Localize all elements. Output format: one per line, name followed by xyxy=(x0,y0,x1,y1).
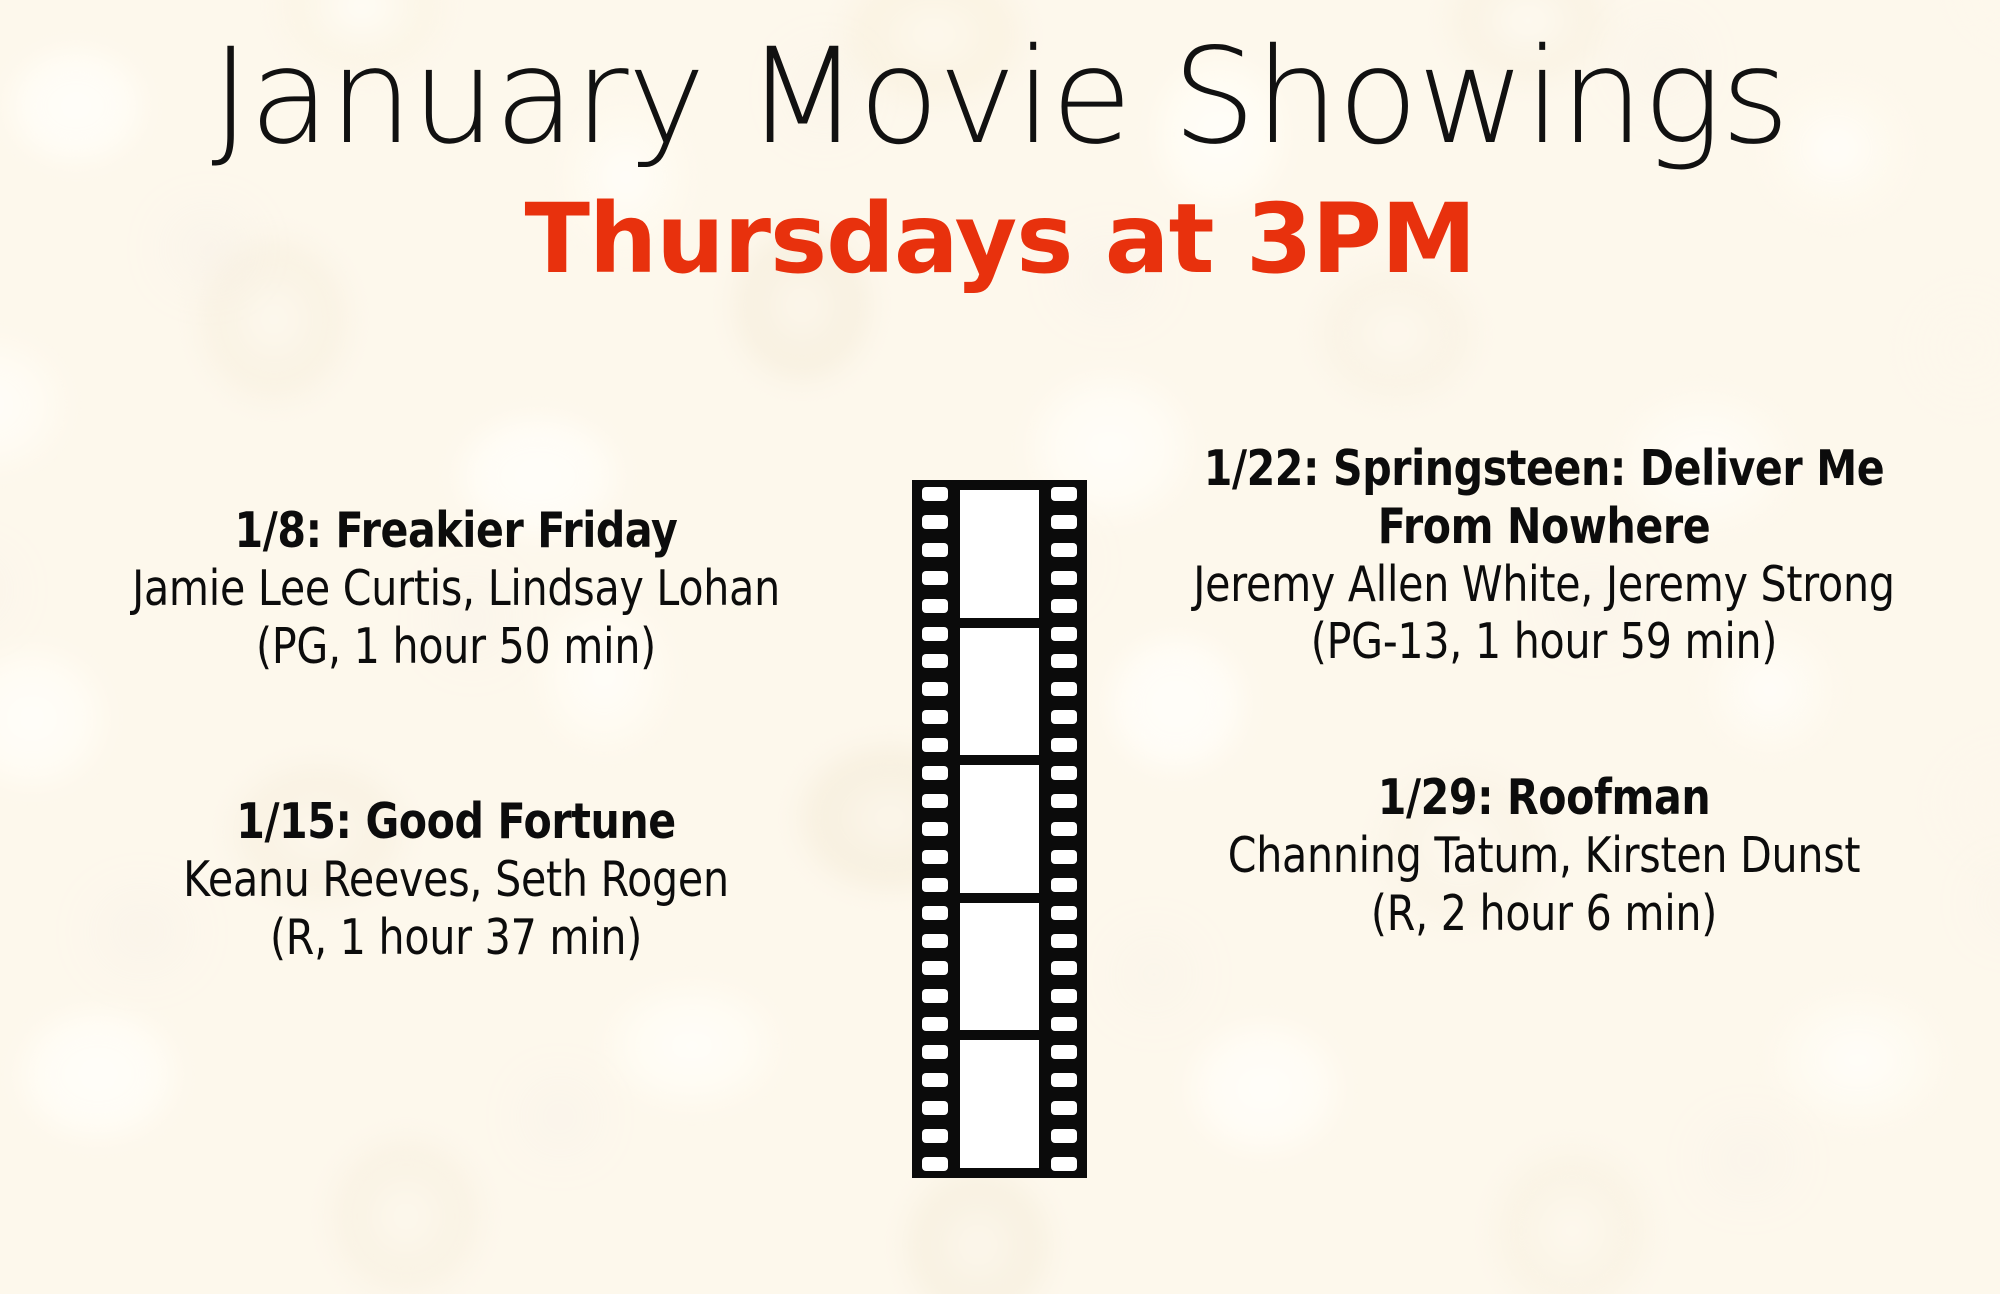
film-perforation xyxy=(922,1157,948,1171)
film-frame-list xyxy=(958,490,1041,1168)
showing-rating-runtime: (R, 2 hour 6 min) xyxy=(1193,885,1895,943)
showing-title: 1/29: Roofman xyxy=(1193,769,1895,827)
showing-item: 1/15: Good Fortune Keanu Reeves, Seth Ro… xyxy=(0,793,912,966)
showings-column-right: 1/22: Springsteen: Deliver Me From Nowhe… xyxy=(1088,440,2000,1294)
poster-subtitle: Thursdays at 3PM xyxy=(0,169,2000,290)
film-perforation xyxy=(1051,543,1077,557)
film-perforation xyxy=(1051,906,1077,920)
film-perforation xyxy=(1051,878,1077,892)
film-perforation xyxy=(1051,934,1077,948)
layout-spacer xyxy=(0,1071,912,1294)
showing-cast: Keanu Reeves, Seth Rogen xyxy=(105,851,807,909)
showing-rating-runtime: (R, 1 hour 37 min) xyxy=(105,909,807,967)
film-perforation xyxy=(922,682,948,696)
film-perforation xyxy=(922,850,948,864)
movie-showings-poster: January Movie Showings Thursdays at 3PM … xyxy=(0,0,2000,1294)
film-perforation xyxy=(1051,682,1077,696)
film-perforation xyxy=(1051,710,1077,724)
showing-cast: Jamie Lee Curtis, Lindsay Lohan xyxy=(105,560,807,618)
film-perforation xyxy=(1051,822,1077,836)
film-perforation xyxy=(922,487,948,501)
showing-rating-runtime: (PG-13, 1 hour 59 min) xyxy=(1193,613,1895,671)
showing-cast: Jeremy Allen White, Jeremy Strong xyxy=(1193,556,1895,614)
film-perforation xyxy=(1051,850,1077,864)
film-perforation xyxy=(922,738,948,752)
showing-title: 1/8: Freakier Friday xyxy=(105,502,807,560)
film-perforation xyxy=(1051,1157,1077,1171)
film-perforation xyxy=(1051,1017,1077,1031)
film-perforation-rail-left xyxy=(912,480,958,1178)
film-perforation xyxy=(1051,599,1077,613)
film-perforation xyxy=(922,1045,948,1059)
page-title: January Movie Showings xyxy=(0,0,2000,169)
film-perforation-rail-right xyxy=(1041,480,1087,1178)
film-perforation xyxy=(1051,487,1077,501)
film-perforation xyxy=(1051,989,1077,1003)
film-frame xyxy=(960,490,1039,618)
film-perforation xyxy=(922,989,948,1003)
showing-title: 1/22: Springsteen: Deliver Me From Nowhe… xyxy=(1193,440,1895,556)
showings-column-left: 1/8: Freakier Friday Jamie Lee Curtis, L… xyxy=(0,440,912,1294)
film-perforation xyxy=(922,1129,948,1143)
film-perforation xyxy=(1051,627,1077,641)
film-perforation xyxy=(922,766,948,780)
film-perforation xyxy=(922,794,948,808)
film-perforation xyxy=(922,906,948,920)
film-perforation xyxy=(922,571,948,585)
showing-item: 1/22: Springsteen: Deliver Me From Nowhe… xyxy=(1088,440,2000,671)
film-frame xyxy=(960,1040,1039,1168)
film-perforation xyxy=(922,599,948,613)
film-perforation xyxy=(1051,1045,1077,1059)
film-perforation xyxy=(1051,515,1077,529)
film-perforation xyxy=(1051,961,1077,975)
film-frame xyxy=(960,903,1039,1031)
film-perforation xyxy=(922,515,948,529)
showing-cast: Channing Tatum, Kirsten Dunst xyxy=(1193,827,1895,885)
film-perforation xyxy=(1051,766,1077,780)
showing-item: 1/29: Roofman Channing Tatum, Kirsten Du… xyxy=(1088,769,2000,942)
film-perforation xyxy=(922,1101,948,1115)
film-perforation xyxy=(922,627,948,641)
showing-rating-runtime: (PG, 1 hour 50 min) xyxy=(105,618,807,676)
film-perforation xyxy=(922,961,948,975)
film-perforation xyxy=(922,1017,948,1031)
film-perforation xyxy=(922,543,948,557)
film-frame xyxy=(960,628,1039,756)
film-perforation xyxy=(1051,571,1077,585)
film-perforation xyxy=(1051,794,1077,808)
film-perforation xyxy=(922,822,948,836)
showing-item: 1/8: Freakier Friday Jamie Lee Curtis, L… xyxy=(0,502,912,675)
layout-spacer xyxy=(1088,963,2000,1294)
film-perforation xyxy=(922,878,948,892)
showing-title: 1/15: Good Fortune xyxy=(105,793,807,851)
film-perforation xyxy=(922,934,948,948)
film-perforation xyxy=(922,710,948,724)
film-perforation xyxy=(922,1073,948,1087)
film-perforation xyxy=(1051,1101,1077,1115)
film-perforation xyxy=(922,654,948,668)
poster-header: January Movie Showings Thursdays at 3PM xyxy=(0,0,2000,289)
film-frame xyxy=(960,765,1039,893)
film-perforation xyxy=(1051,1073,1077,1087)
film-strip-icon xyxy=(912,480,1087,1178)
film-perforation xyxy=(1051,738,1077,752)
film-perforation xyxy=(1051,654,1077,668)
film-perforation xyxy=(1051,1129,1077,1143)
